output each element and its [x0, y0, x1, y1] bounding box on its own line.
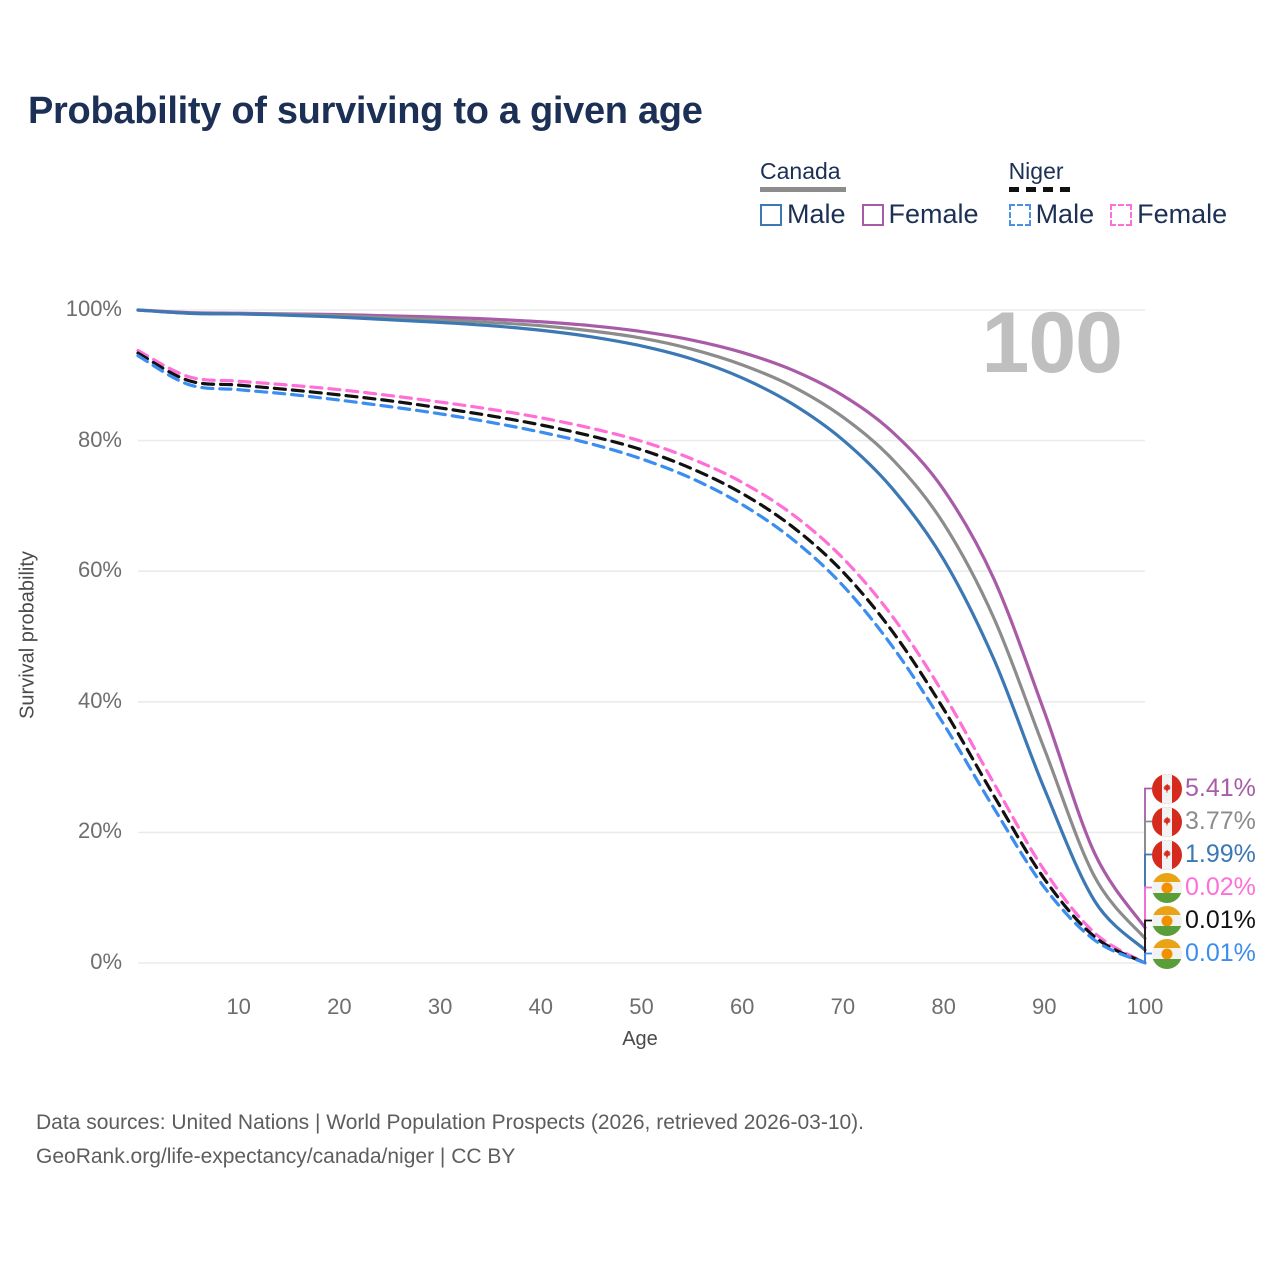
- end-label-row: 0.01%: [1152, 937, 1256, 970]
- end-label-value: 1.99%: [1185, 842, 1256, 867]
- grid-lines: [138, 310, 1145, 963]
- x-axis-tick-label: 10: [199, 994, 279, 1020]
- x-axis-tick-label: 90: [1004, 994, 1084, 1020]
- y-axis-tick-label: 40%: [40, 688, 122, 714]
- end-label-value: 0.02%: [1185, 875, 1256, 900]
- x-axis-tick-label: 70: [803, 994, 883, 1020]
- x-axis-tick-label: 60: [702, 994, 782, 1020]
- end-label-row: 0.02%: [1152, 871, 1256, 904]
- x-axis-tick-label: 80: [904, 994, 984, 1020]
- end-label-value: 0.01%: [1185, 908, 1256, 933]
- series-end-labels: 5.41%3.77%1.99%0.02%0.01%0.01%: [1152, 772, 1256, 970]
- footer-line-2: GeoRank.org/life-expectancy/canada/niger…: [36, 1140, 864, 1174]
- label-connectors: [1145, 789, 1152, 963]
- x-axis-tick-label: 100: [1105, 994, 1185, 1020]
- end-label-connector: [1145, 888, 1152, 963]
- end-label-row: 1.99%: [1152, 838, 1256, 871]
- y-axis-label: Survival probability: [17, 551, 40, 719]
- x-axis-tick-label: 50: [602, 994, 682, 1020]
- x-axis-tick-label: 20: [299, 994, 379, 1020]
- x-axis-tick-label: 30: [400, 994, 480, 1020]
- y-axis-tick-label: 80%: [40, 427, 122, 453]
- end-label-row: 5.41%: [1152, 772, 1256, 805]
- end-label-value: 5.41%: [1185, 776, 1256, 801]
- series-line-canada-both-sexes: [138, 310, 1145, 938]
- canada-flag-icon: [1152, 807, 1182, 837]
- end-label-connector: [1145, 789, 1152, 928]
- chart-plot-area: [0, 0, 1280, 1280]
- end-label-row: 3.77%: [1152, 805, 1256, 838]
- y-axis-tick-label: 100%: [40, 296, 122, 322]
- niger-flag-icon: [1152, 939, 1182, 969]
- canada-flag-icon: [1152, 840, 1182, 870]
- end-label-value: 0.01%: [1185, 941, 1256, 966]
- canada-flag-icon: [1152, 774, 1182, 804]
- niger-flag-icon: [1152, 906, 1182, 936]
- end-label-connector: [1145, 954, 1152, 963]
- y-axis-tick-label: 20%: [40, 818, 122, 844]
- x-axis-label: Age: [622, 1028, 658, 1051]
- footer-line-1: Data sources: United Nations | World Pop…: [36, 1106, 864, 1140]
- footer-credits: Data sources: United Nations | World Pop…: [36, 1106, 864, 1174]
- end-label-value: 3.77%: [1185, 809, 1256, 834]
- y-axis-tick-label: 60%: [40, 557, 122, 583]
- watermark-value: 100: [982, 300, 1123, 386]
- y-axis-tick-label: 0%: [40, 949, 122, 975]
- end-label-row: 0.01%: [1152, 904, 1256, 937]
- series-line-canada-male: [138, 310, 1145, 950]
- x-axis-tick-label: 40: [501, 994, 581, 1020]
- series-lines: [138, 310, 1145, 963]
- niger-flag-icon: [1152, 873, 1182, 903]
- end-label-connector: [1145, 855, 1152, 951]
